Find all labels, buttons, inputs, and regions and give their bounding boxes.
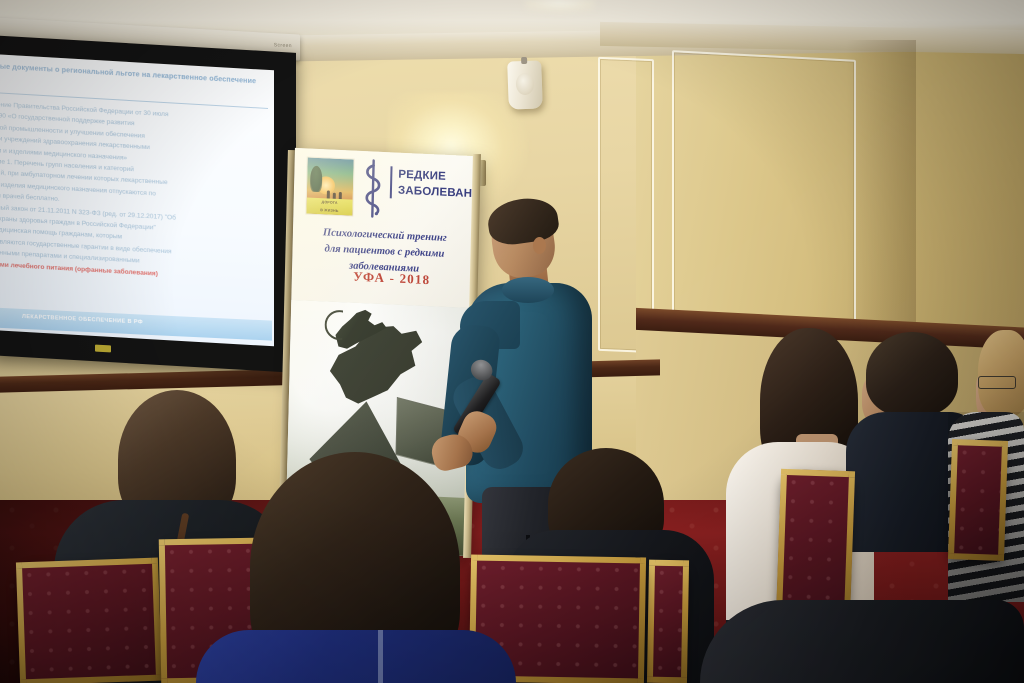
speaker-mount: [521, 57, 527, 64]
slide-footer-label: ЛЕКАРСТВЕННОЕ ОБЕСПЕЧЕНИЕ В РФ: [22, 314, 143, 326]
logo-caption-band: ДОРОГА В ЖИЗНЬ: [306, 198, 352, 216]
chair-fabric-pattern: [954, 445, 1002, 554]
banner-heading: РЕДКИЕ ЗАБОЛЕВАНИЯ: [390, 166, 477, 202]
banner-heading-line2: ЗАБОЛЕВАНИЯ: [398, 183, 477, 203]
audience-member-blonde-hair: [978, 330, 1024, 416]
jacket-zipper: [378, 630, 383, 683]
screen-brand-label: Screen: [274, 42, 292, 49]
projector-screen-surface: ые документы о региональной льготе на ле…: [0, 54, 274, 347]
presenter-collar: [502, 277, 554, 303]
chair-fabric-pattern: [653, 566, 683, 677]
audience-member-foreground-right: [700, 600, 1024, 683]
ceiling-light-fixture: [525, 0, 595, 12]
logo-caption-line2: В ЖИЗНЬ: [306, 206, 352, 216]
screen-tape-marker: [95, 345, 111, 353]
conference-photo-scene: Screen ые документы о региональной льгот…: [0, 0, 1024, 683]
audience-member-blue-top: [196, 630, 516, 683]
banquet-chair: [948, 439, 1008, 561]
rod-of-asclepius-icon: [359, 157, 386, 220]
slide-body: овление Правительства Российской Федерац…: [0, 100, 262, 287]
wall-speaker: [507, 60, 543, 109]
charity-logo: ДОРОГА В ЖИЗНЬ: [305, 156, 354, 216]
audience-member-hair: [866, 332, 958, 416]
logo-tree: [310, 166, 323, 193]
speaker-cone: [516, 73, 535, 96]
banquet-chair: [647, 560, 689, 683]
presenter-ear: [533, 237, 546, 254]
chair-fabric-pattern: [22, 564, 156, 679]
eyeglasses-icon: [978, 376, 1016, 389]
banquet-chair: [16, 558, 162, 683]
